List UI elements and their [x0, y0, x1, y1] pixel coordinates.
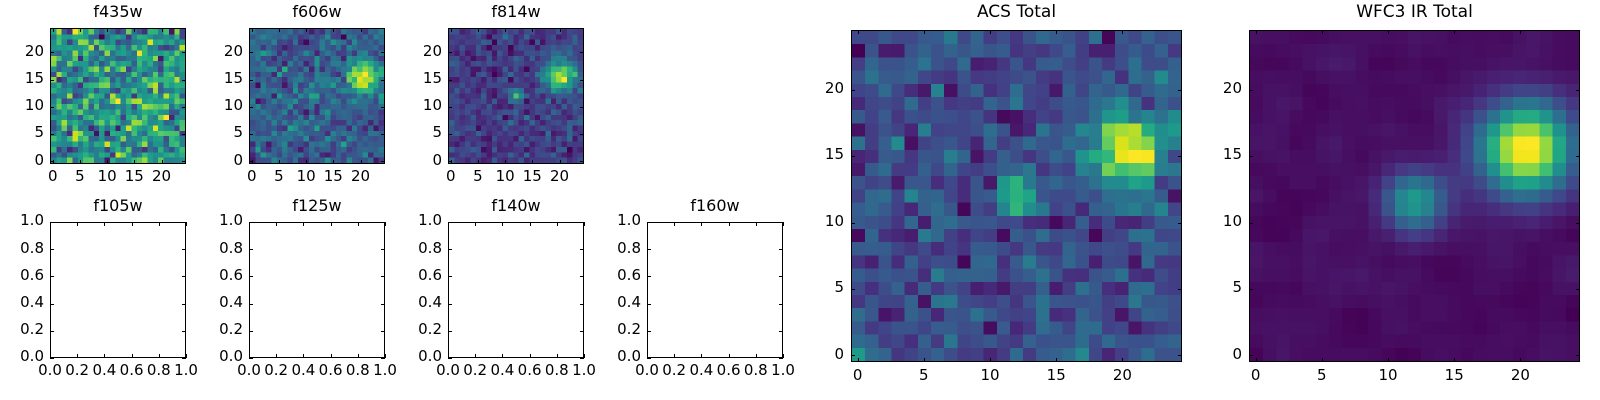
xtick-wfc3-ir-total-4 [1520, 358, 1521, 362]
xtick-wfc3-ir-total-2 [1388, 358, 1389, 362]
ytick-right-wfc3-ir-total-2 [1576, 223, 1580, 224]
ytick-wfc3-ir-total-0 [1249, 355, 1253, 356]
ytick-right-wfc3-ir-total-3 [1576, 156, 1580, 157]
xtick-wfc3-ir-total-0 [1256, 358, 1257, 362]
axes-wfc3-ir-total [1249, 30, 1580, 362]
heatmap-image-wfc3-ir-total [1250, 31, 1579, 361]
yticklabel-wfc3-ir-total-0: 0 [1162, 347, 1242, 362]
xtick-top-wfc3-ir-total-3 [1454, 30, 1455, 34]
ytick-right-wfc3-ir-total-4 [1576, 90, 1580, 91]
figure-canvas: f435w0510152005101520f606w05101520051015… [0, 0, 1600, 400]
ytick-wfc3-ir-total-1 [1249, 289, 1253, 290]
ytick-wfc3-ir-total-3 [1249, 156, 1253, 157]
ytick-right-wfc3-ir-total-0 [1576, 355, 1580, 356]
panel-wfc3-ir-total: WFC3 IR Total0510152005101520 [0, 0, 1600, 400]
xticklabel-wfc3-ir-total-4: 20 [1480, 368, 1560, 383]
ytick-wfc3-ir-total-2 [1249, 223, 1253, 224]
xtick-wfc3-ir-total-1 [1322, 358, 1323, 362]
xtick-top-wfc3-ir-total-1 [1322, 30, 1323, 34]
xtick-top-wfc3-ir-total-2 [1388, 30, 1389, 34]
yticklabel-wfc3-ir-total-4: 20 [1162, 81, 1242, 96]
yticklabel-wfc3-ir-total-1: 5 [1162, 280, 1242, 295]
yticklabel-wfc3-ir-total-2: 10 [1162, 214, 1242, 229]
ytick-wfc3-ir-total-4 [1249, 90, 1253, 91]
xtick-top-wfc3-ir-total-0 [1256, 30, 1257, 34]
ytick-right-wfc3-ir-total-1 [1576, 289, 1580, 290]
xtick-top-wfc3-ir-total-4 [1520, 30, 1521, 34]
yticklabel-wfc3-ir-total-3: 15 [1162, 147, 1242, 162]
xtick-wfc3-ir-total-3 [1454, 358, 1455, 362]
panel-title-wfc3-ir-total: WFC3 IR Total [1249, 4, 1580, 21]
